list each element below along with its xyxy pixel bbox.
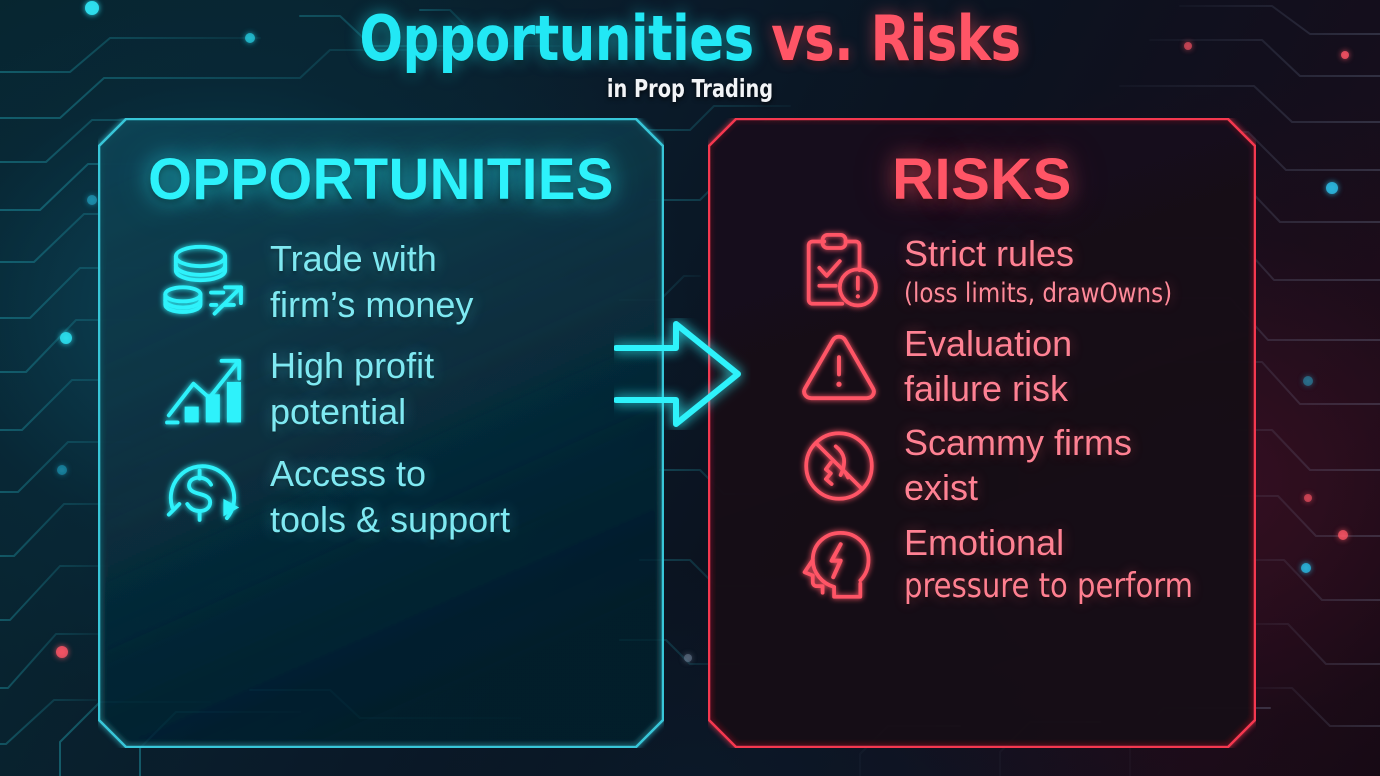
- bar-chart-growth-icon: [160, 345, 248, 433]
- list-item-line2: tools & support: [270, 497, 664, 543]
- list-item-line1: Scammy firms: [904, 421, 1256, 466]
- warning-triangle-icon: [798, 326, 880, 408]
- list-item-line1: Strict rules: [904, 232, 1256, 277]
- list-item-line2: potential: [270, 389, 664, 435]
- title-vs: vs.: [771, 2, 853, 75]
- list-item[interactable]: Strict rules (loss limits, drawOwns): [708, 230, 1256, 312]
- opportunities-list: Trade with firm’s money High: [98, 236, 664, 558]
- list-item[interactable]: Scammy firms exist: [708, 421, 1256, 510]
- list-item-line1: Access to: [270, 453, 426, 494]
- panel-opportunities: OPPORTUNITIES: [98, 118, 664, 748]
- panel-risks-title: RISKS: [708, 146, 1256, 213]
- panel-risks: RISKS Strict rules: [708, 118, 1256, 748]
- list-item[interactable]: High profit potential: [98, 343, 664, 434]
- list-item-line2: pressure to perform: [904, 565, 1238, 607]
- list-item-text: Trade with firm’s money: [270, 236, 664, 327]
- title-risks: Risks: [871, 2, 1021, 75]
- list-item-line2: failure risk: [904, 367, 1256, 412]
- title-opportunities: Opportunities: [359, 2, 753, 75]
- money-stack-growth-icon: [160, 238, 248, 326]
- list-item[interactable]: Evaluation failure risk: [708, 322, 1256, 411]
- list-item[interactable]: Access to tools & support: [98, 451, 664, 542]
- panel-opportunities-title: OPPORTUNITIES: [106, 146, 655, 213]
- infographic-canvas: Opportunities vs. Risks in Prop Trading …: [0, 0, 1380, 776]
- clipboard-alert-icon: [798, 230, 880, 312]
- main-title: Opportunities vs. Risks: [55, 6, 1325, 71]
- risks-list: Strict rules (loss limits, drawOwns) Eva…: [708, 230, 1256, 617]
- list-item-line2: firm’s money: [270, 282, 664, 328]
- no-scam-icon: [798, 425, 880, 507]
- list-item-text: Access to tools & support: [270, 451, 664, 542]
- list-item-line1: High profit: [270, 345, 434, 386]
- list-item[interactable]: Trade with firm’s money: [98, 236, 664, 327]
- dollar-refresh-icon: [160, 453, 248, 541]
- list-item-text: Strict rules (loss limits, drawOwns): [904, 232, 1256, 310]
- list-item-text: High profit potential: [270, 343, 664, 434]
- title-block: Opportunities vs. Risks in Prop Trading: [0, 6, 1380, 103]
- subtitle: in Prop Trading: [97, 74, 1284, 103]
- list-item-line2: exist: [904, 466, 1256, 511]
- list-item-sublabel: (loss limits, drawOwns): [904, 277, 1238, 310]
- arrow-right-icon: [614, 318, 754, 430]
- list-item-text: Evaluation failure risk: [904, 322, 1256, 411]
- list-item-text: Scammy firms exist: [904, 421, 1256, 510]
- head-lightning-icon: [798, 523, 880, 605]
- list-item-line1: Evaluation: [904, 322, 1256, 367]
- list-item-line1: Emotional: [904, 521, 1256, 566]
- list-item-line1: Trade with: [270, 238, 437, 279]
- list-item-text: Emotional pressure to perform: [904, 521, 1256, 608]
- list-item[interactable]: Emotional pressure to perform: [708, 521, 1256, 608]
